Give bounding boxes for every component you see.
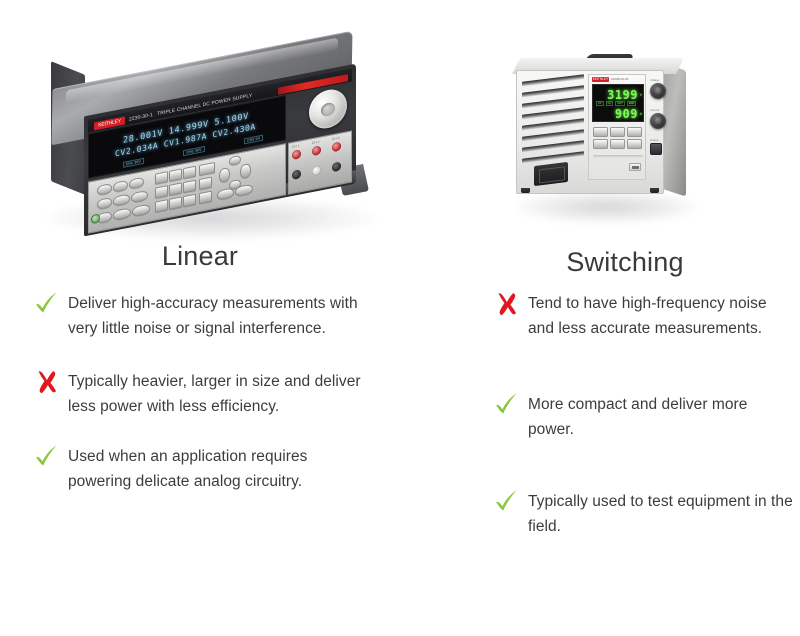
switching-key-2[interactable] [610, 127, 625, 137]
linear-key-fn-4[interactable] [97, 197, 112, 210]
switching-knob-label-output: Output [650, 138, 658, 142]
switching-display-current-unit: A [640, 112, 642, 116]
linear-key-fn-9[interactable] [132, 204, 150, 217]
bullet-item: Used when an application requires poweri… [34, 445, 364, 494]
linear-numpad-key-4[interactable] [155, 185, 168, 199]
linear-key-fn-1[interactable] [97, 183, 112, 196]
switching-annunciator-out: OUT [615, 101, 624, 106]
column-title-linear: Linear [0, 241, 400, 272]
switching-display-annunciators: CV CC OUT ERR [596, 101, 642, 106]
switching-annunciator-cv: CV [596, 101, 604, 106]
switching-display-voltage-unit: V [640, 93, 642, 97]
usb-port-icon[interactable] [629, 163, 641, 171]
linear-terminal-ch1-negative[interactable] [292, 169, 301, 180]
linear-numpad-key-6[interactable] [183, 180, 196, 194]
linear-numpad-key-1[interactable] [155, 199, 168, 213]
switching-device-foot-left [521, 188, 530, 193]
linear-numpad-key-5[interactable] [169, 182, 182, 196]
switching-voltage-knob[interactable] [650, 83, 666, 99]
linear-annunciator-3: CH3 5V [244, 135, 263, 145]
column-title-switching: Switching [420, 247, 800, 278]
column-switching: KEITHLEY 2260B-30-36 3199 V CV CC OUT ER… [420, 0, 800, 636]
linear-arrow-up[interactable] [229, 155, 241, 166]
linear-arrow-left[interactable] [219, 167, 230, 183]
bullet-list-switching: Tend to have high-frequency noise and le… [494, 292, 794, 565]
keithley-logo-switching: KEITHLEY [592, 77, 609, 82]
switching-display-voltage: 3199 [607, 88, 638, 102]
bullet-text: Deliver high-accuracy measurements with … [68, 292, 364, 341]
switching-key-4[interactable] [593, 139, 608, 149]
check-icon [34, 444, 68, 470]
switching-device-shadow [514, 190, 700, 224]
switching-device-keypad [593, 127, 643, 151]
bullet-text: Typically used to test equipment in the … [528, 490, 794, 539]
linear-key-fn-5[interactable] [113, 193, 130, 206]
linear-device-output-terminals: CH 1 CH 2 CH 3 [288, 130, 352, 194]
linear-numpad-key-8[interactable] [169, 168, 182, 182]
switching-power-supply-image: KEITHLEY 2260B-30-36 3199 V CV CC OUT ER… [500, 52, 710, 222]
linear-key-fn-2[interactable] [113, 180, 128, 193]
bullet-item: Deliver high-accuracy measurements with … [34, 292, 364, 341]
linear-key-enter[interactable] [217, 187, 234, 200]
linear-power-supply-image: KEITHLEY 2230-30-1 TRIPLE CHANNEL DC POW… [40, 46, 380, 236]
switching-device-foot-right [650, 188, 659, 193]
switching-device-air-vents [522, 78, 584, 166]
check-icon [494, 489, 528, 515]
linear-numpad-key-3[interactable] [183, 194, 196, 208]
linear-terminal-ch3-positive[interactable] [332, 141, 341, 152]
switching-device-front-plate: KEITHLEY 2260B-30-36 3199 V CV CC OUT ER… [588, 74, 646, 180]
linear-terminal-ground[interactable] [312, 165, 321, 176]
switching-key-3[interactable] [627, 127, 642, 137]
linear-terminal-ch2-positive[interactable] [312, 145, 321, 156]
switching-device-ac-inlet [534, 162, 568, 186]
bullet-item: Tend to have high-frequency noise and le… [494, 292, 794, 341]
comparison-graphic: KEITHLEY 2230-30-1 TRIPLE CHANNEL DC POW… [0, 0, 800, 636]
linear-annunciator-1: CH1 30V [123, 158, 144, 168]
linear-key-fn-6[interactable] [131, 190, 148, 203]
linear-numpad-key-7[interactable] [155, 171, 168, 185]
switching-device-display: 3199 V CV CC OUT ERR 909 A [592, 84, 644, 122]
switching-current-knob[interactable] [650, 113, 666, 129]
check-icon [494, 392, 528, 418]
cross-icon [494, 291, 528, 317]
switching-annunciator-cc: CC [606, 101, 614, 106]
switching-output-button[interactable] [650, 143, 662, 155]
linear-annunciator-2: CH2 30V [183, 146, 204, 156]
bullet-list-linear: Deliver high-accuracy measurements with … [34, 292, 364, 520]
bullet-item: Typically used to test equipment in the … [494, 490, 794, 539]
cross-icon [34, 369, 68, 395]
linear-terminal-ch1-positive[interactable] [292, 149, 301, 160]
linear-numpad-key-2[interactable] [169, 196, 182, 210]
column-linear: KEITHLEY 2230-30-1 TRIPLE CHANNEL DC POW… [0, 0, 420, 636]
linear-arrow-right[interactable] [240, 163, 251, 179]
bullet-item: More compact and deliver more power. [494, 393, 794, 442]
switching-knob-label-current: Current [650, 108, 659, 112]
check-icon [34, 291, 68, 317]
linear-key-fn-8[interactable] [113, 207, 131, 220]
bullet-text: More compact and deliver more power. [528, 393, 794, 442]
switching-key-1[interactable] [593, 127, 608, 137]
bullet-text: Typically heavier, larger in size and de… [68, 370, 364, 419]
bullet-text: Tend to have high-frequency noise and le… [528, 292, 794, 341]
linear-numpad-key-9[interactable] [183, 166, 196, 180]
linear-key-fn-3[interactable] [129, 177, 144, 190]
bullet-item: Typically heavier, larger in size and de… [34, 370, 364, 419]
linear-terminal-ch3-negative[interactable] [332, 161, 341, 172]
switching-annunciator-err: ERR [627, 101, 636, 106]
switching-device-model-label: 2260B-30-36 [611, 77, 628, 82]
switching-device-front-slot [593, 155, 643, 158]
linear-numpad-key-0[interactable] [199, 191, 212, 205]
linear-numpad-key-back[interactable] [199, 162, 215, 176]
bullet-text: Used when an application requires poweri… [68, 445, 364, 494]
switching-key-5[interactable] [610, 139, 625, 149]
switching-key-6[interactable] [627, 139, 642, 149]
linear-device-rotary-knob[interactable] [309, 86, 347, 131]
linear-numpad-key-dot[interactable] [199, 177, 212, 191]
switching-display-current: 909 [615, 107, 638, 121]
switching-knob-label-voltage: Voltage [650, 78, 659, 82]
